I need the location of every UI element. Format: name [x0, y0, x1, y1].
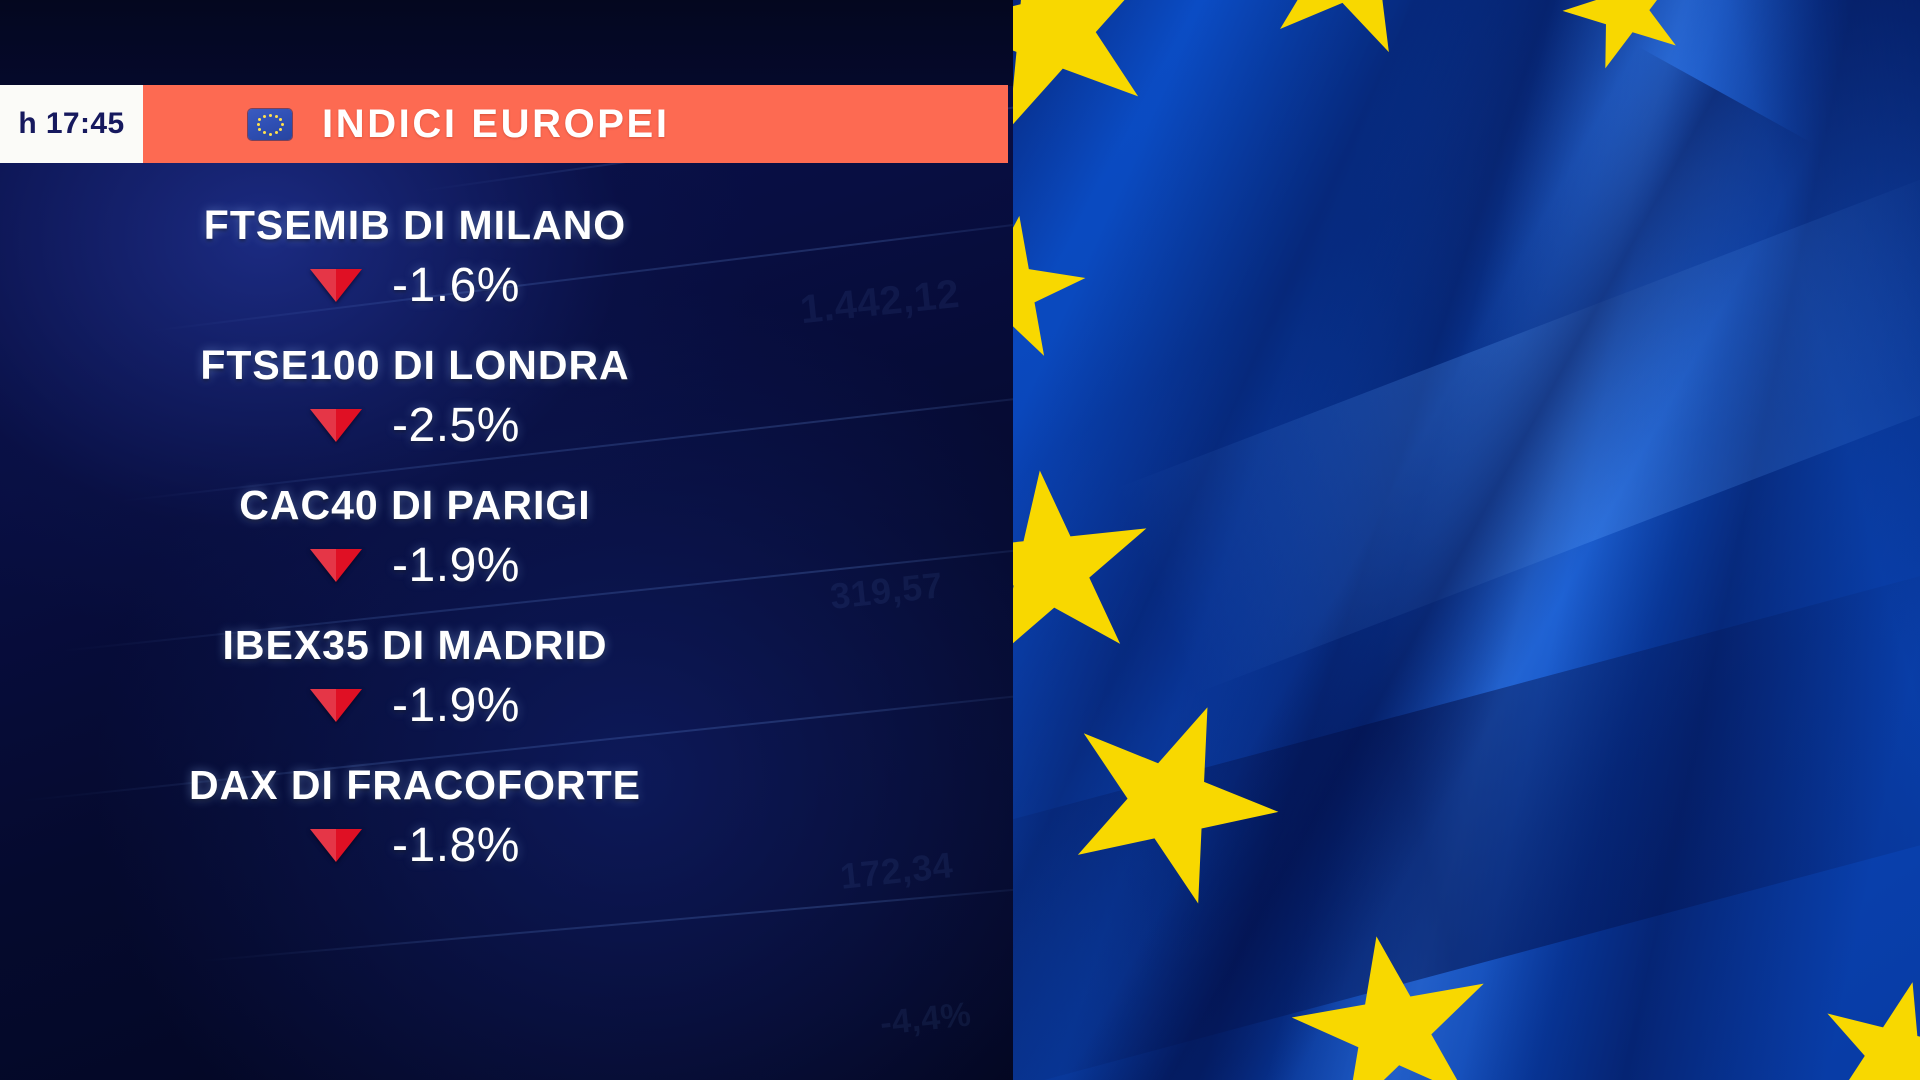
index-change-group: -2.5%: [0, 398, 830, 453]
index-change-value: -2.5%: [392, 398, 520, 453]
eu-flag-icon-star: [275, 131, 278, 134]
index-row: CAC40 DI PARIGI -1.9%: [0, 476, 1013, 616]
eu-flag-icon-star: [258, 118, 261, 121]
index-change-group: -1.9%: [0, 678, 830, 733]
eu-flag-icon-star: [257, 123, 260, 126]
eu-flag-icon-star: [281, 123, 284, 126]
indices-list: FTSEMIB DI MILANO -1.6% FTSE100 DI LONDR…: [0, 196, 1013, 896]
index-change-value: -1.9%: [392, 678, 520, 733]
eu-flag-icon: [248, 109, 292, 140]
index-row: FTSE100 DI LONDRA -2.5%: [0, 336, 1013, 476]
eu-flag-icon-star: [279, 128, 282, 131]
index-change-value: -1.9%: [392, 538, 520, 593]
index-change-group: -1.6%: [0, 258, 830, 313]
time-label: h 17:45: [18, 107, 124, 141]
panel-top-cap: [0, 0, 1013, 86]
triangle-down-icon: [310, 829, 362, 862]
eu-flag-icon-star: [275, 115, 278, 118]
eu-flag-icon-star: [263, 131, 266, 134]
index-name: FTSE100 DI LONDRA: [0, 342, 830, 389]
ghost-value: -4,4%: [878, 995, 973, 1043]
eu-flag-icon-star: [263, 115, 266, 118]
eu-flag-background-photo: [1005, 0, 1920, 1080]
eu-flag-icon-star: [258, 128, 261, 131]
index-name: CAC40 DI PARIGI: [0, 482, 830, 529]
index-name: IBEX35 DI MADRID: [0, 622, 830, 669]
header-strip: h 17:45 INDICI EUROPEI: [0, 85, 1013, 163]
index-name: DAX DI FRACOFORTE: [0, 762, 830, 809]
index-row: DAX DI FRACOFORTE -1.8%: [0, 756, 1013, 896]
title-bar: INDICI EUROPEI: [143, 85, 1008, 163]
index-change-value: -1.8%: [392, 818, 520, 873]
triangle-down-icon: [310, 269, 362, 302]
triangle-down-icon: [310, 549, 362, 582]
time-badge: h 17:45: [0, 85, 143, 163]
eu-flag-icon-star: [269, 114, 272, 117]
index-change-group: -1.8%: [0, 818, 830, 873]
index-change-group: -1.9%: [0, 538, 830, 593]
broadcast-graphic: 1.442,12 319,57 172,34 -4,4% h 17:45: [0, 0, 1920, 1080]
index-row: IBEX35 DI MADRID -1.9%: [0, 616, 1013, 756]
eu-flag-icon-star: [279, 118, 282, 121]
triangle-down-icon: [310, 689, 362, 722]
triangle-down-icon: [310, 409, 362, 442]
index-name: FTSEMIB DI MILANO: [0, 202, 830, 249]
index-change-value: -1.6%: [392, 258, 520, 313]
index-row: FTSEMIB DI MILANO -1.6%: [0, 196, 1013, 336]
eu-flag-icon-star: [269, 133, 272, 136]
page-title: INDICI EUROPEI: [322, 102, 670, 147]
